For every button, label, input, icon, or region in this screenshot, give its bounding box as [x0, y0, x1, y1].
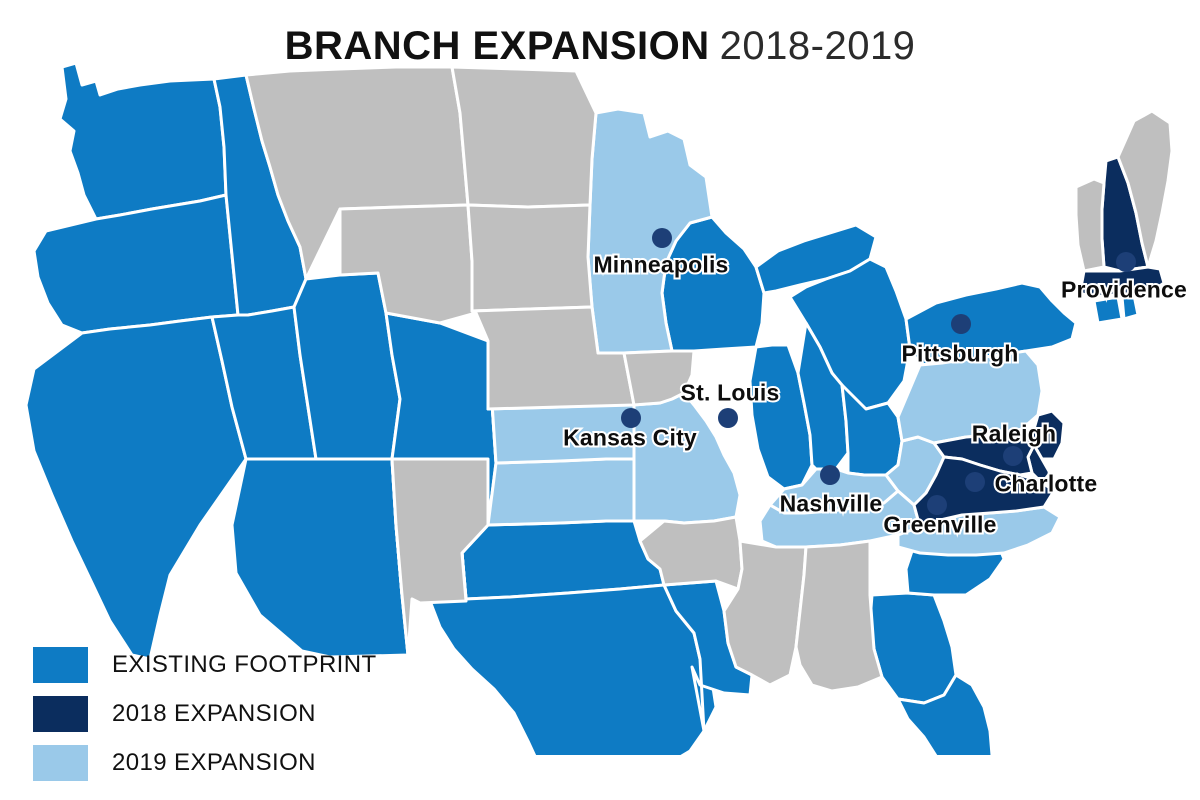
city-label-st-louis: St. Louis: [681, 380, 780, 407]
city-label-greenville: Greenville: [883, 512, 996, 539]
city-label-charlotte: Charlotte: [995, 471, 1098, 498]
legend: EXISTING FOOTPRINT 2018 EXPANSION 2019 E…: [33, 644, 453, 791]
state-oregon[interactable]: [34, 195, 238, 333]
city-dot-nashville[interactable]: [820, 465, 840, 485]
city-dot-raleigh[interactable]: [1003, 446, 1023, 466]
city-dot-minneapolis[interactable]: [652, 228, 672, 248]
city-label-pittsburgh: Pittsburgh: [902, 341, 1019, 368]
city-label-nashville: Nashville: [780, 491, 883, 518]
state-northdakota[interactable]: [452, 67, 596, 207]
legend-item-existing[interactable]: EXISTING FOOTPRINT: [33, 644, 453, 686]
legend-item-2018[interactable]: 2018 EXPANSION: [33, 693, 453, 735]
city-label-providence: Providence: [1061, 277, 1187, 304]
legend-label-existing: EXISTING FOOTPRINT: [112, 651, 377, 679]
state-georgia[interactable]: [870, 593, 956, 703]
state-washington[interactable]: [60, 63, 226, 219]
city-dot-providence[interactable]: [1116, 252, 1136, 272]
legend-item-2019[interactable]: 2019 EXPANSION: [33, 742, 453, 784]
legend-swatch-2019: [33, 745, 88, 781]
state-california[interactable]: [26, 317, 246, 659]
legend-label-2019: 2019 EXPANSION: [112, 749, 316, 777]
city-label-minneapolis: Minneapolis: [593, 252, 728, 279]
legend-label-2018: 2018 EXPANSION: [112, 700, 316, 728]
state-vermont[interactable]: [1076, 179, 1104, 271]
state-southdakota[interactable]: [468, 205, 592, 311]
state-alabama[interactable]: [796, 541, 882, 691]
city-dot-st-louis[interactable]: [718, 408, 738, 428]
city-dot-charlotte[interactable]: [965, 472, 985, 492]
city-label-kansas-city: Kansas City: [563, 425, 697, 452]
city-label-raleigh: Raleigh: [972, 421, 1056, 448]
legend-swatch-2018: [33, 696, 88, 732]
branch-expansion-infographic: BRANCH EXPANSION2018-2019: [0, 0, 1200, 800]
legend-swatch-existing: [33, 647, 88, 683]
city-dot-pittsburgh[interactable]: [951, 314, 971, 334]
state-arizona[interactable]: [232, 459, 408, 657]
